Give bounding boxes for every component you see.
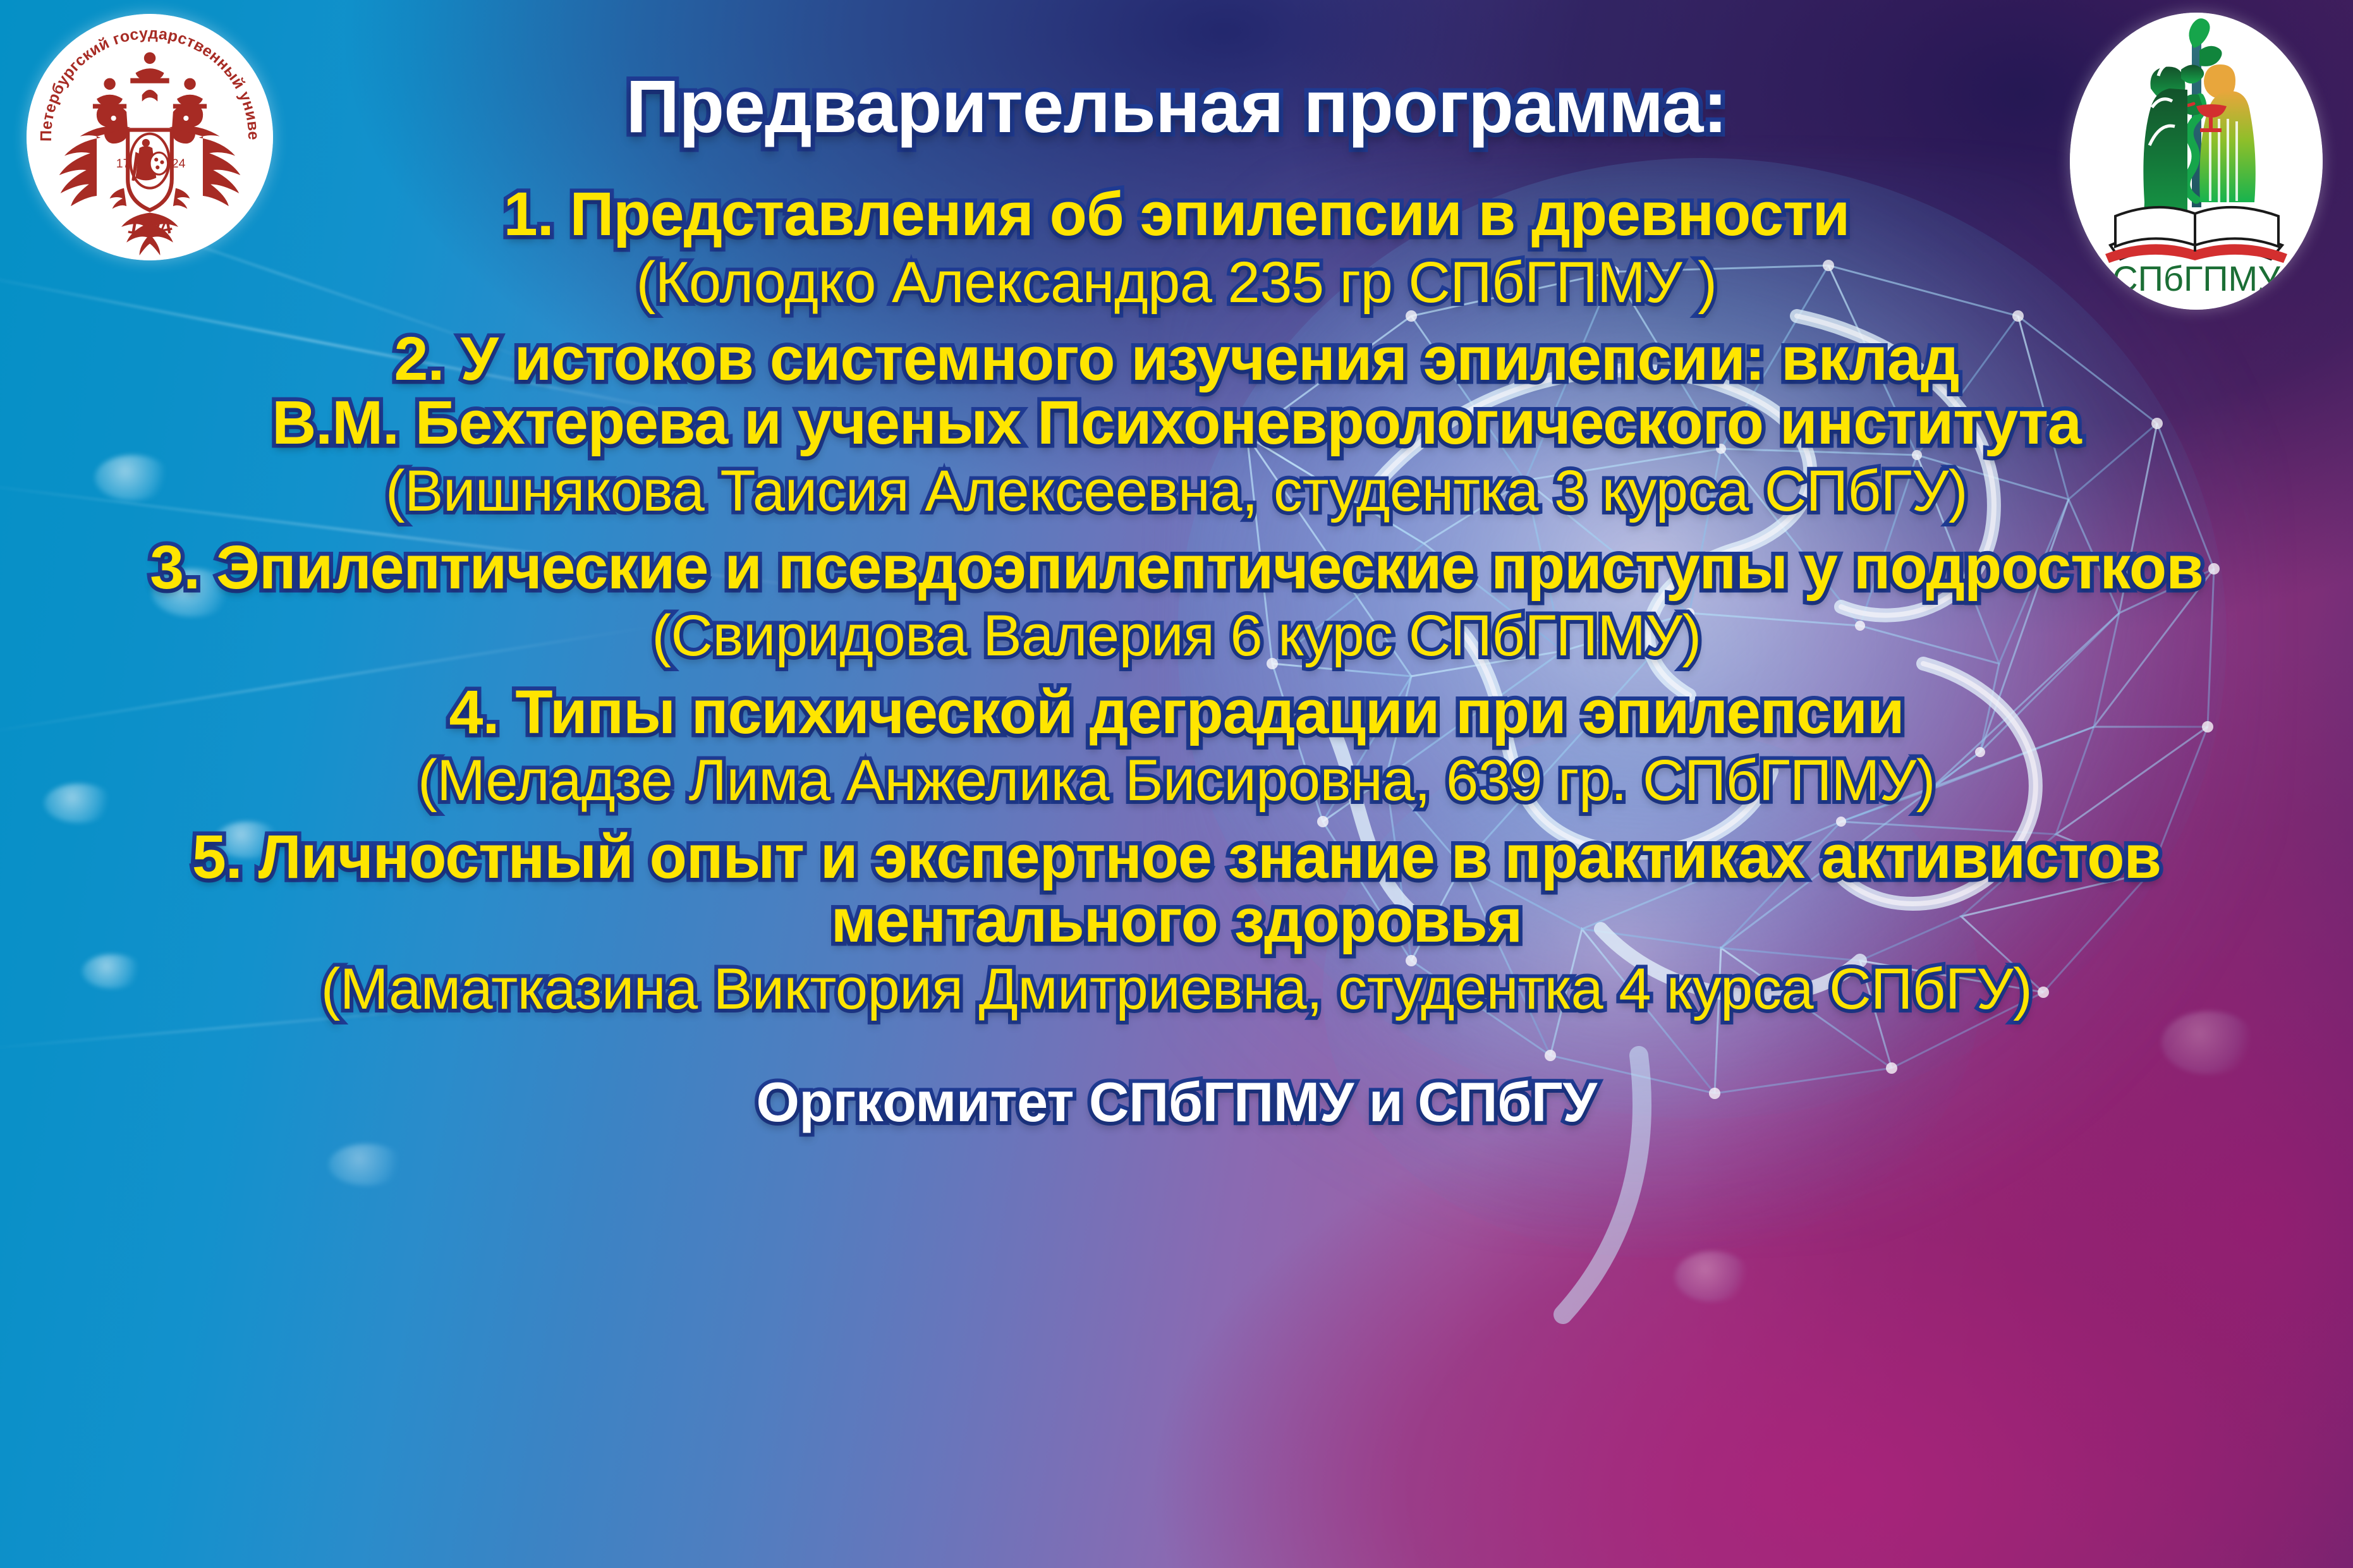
program-item-5-title-line-2: ментального здоровья	[0, 890, 2353, 951]
program-item-3: 3. Эпилептические и псевдоэпилептические…	[0, 537, 2353, 665]
program-item-4-author: (Меладзе Лима Анжелика Бисировна, 639 гр…	[0, 751, 2353, 810]
program-item-1: 1. Представления об эпилепсии в древност…	[0, 183, 2353, 312]
program-item-2-title-line-2: В.М. Бехтерева и ученых Психоневрологиче…	[0, 392, 2353, 453]
page-title: Предварительная программа:	[626, 70, 1727, 144]
program-item-5-title-line-1: 5. Личностный опыт и экспертное знание в…	[0, 826, 2353, 887]
program-item-3-author: (Свиридова Валерия 6 курс СПбГПМУ)	[0, 607, 2353, 665]
poster-canvas: Санкт-Петербургский государственный унив…	[0, 0, 2353, 1568]
program-item-1-author: (Колодко Александра 235 гр СПбГПМУ )	[0, 253, 2353, 312]
program-list: 1. Представления об эпилепсии в древност…	[0, 181, 2353, 1018]
program-item-2: 2. У истоков системного изучения эпилепс…	[0, 328, 2353, 520]
program-item-4: 4. Типы психической деградации при эпиле…	[0, 681, 2353, 810]
organizing-committee-line: Оргкомитет СПбГПМУ и СПбГУ	[756, 1070, 1596, 1134]
program-item-5-author: (Маматказина Виктория Дмитриевна, студен…	[0, 960, 2353, 1018]
program-item-4-title-line-1: 4. Типы психической деградации при эпиле…	[0, 681, 2353, 743]
program-item-2-author: (Вишнякова Таисия Алексеевна, студентка …	[0, 462, 2353, 520]
program-item-5: 5. Личностный опыт и экспертное знание в…	[0, 826, 2353, 1018]
program-item-1-title-line-1: 1. Представления об эпилепсии в древност…	[0, 183, 2353, 245]
program-item-2-title-line-1: 2. У истоков системного изучения эпилепс…	[0, 328, 2353, 389]
program-item-3-title-line-1: 3. Эпилептические и псевдоэпилептические…	[0, 537, 2353, 598]
poster-content: Предварительная программа: 1. Представле…	[0, 0, 2353, 1568]
